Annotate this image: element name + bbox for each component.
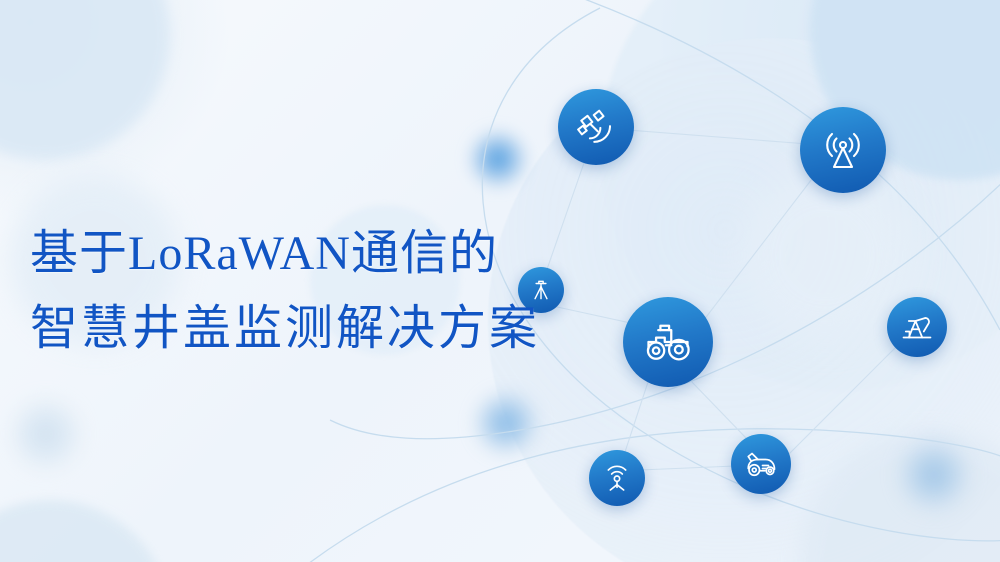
satellite-dish-icon <box>575 106 617 148</box>
node-oil-pumpjack[interactable] <box>887 297 947 357</box>
node-satellite[interactable] <box>558 89 634 165</box>
radio-tower-icon <box>819 126 867 174</box>
title-line-2: 智慧井盖监测解决方案 <box>30 300 570 359</box>
presentation-slide: 基于LoRaWAN通信的 智慧井盖监测解决方案 <box>0 0 1000 562</box>
slide-title: 基于LoRaWAN通信的 智慧井盖监测解决方案 <box>30 225 570 358</box>
tractor-icon <box>642 316 694 368</box>
node-harvester[interactable] <box>731 434 791 494</box>
node-tractor[interactable] <box>623 297 713 387</box>
node-wireless-sensor[interactable] <box>589 450 645 506</box>
node-radio-tower[interactable] <box>800 107 886 193</box>
wireless-sensor-icon <box>601 462 633 494</box>
title-line-1: 基于LoRaWAN通信的 <box>30 225 570 284</box>
harvester-icon <box>743 446 779 482</box>
oil-pumpjack-icon <box>899 309 935 345</box>
